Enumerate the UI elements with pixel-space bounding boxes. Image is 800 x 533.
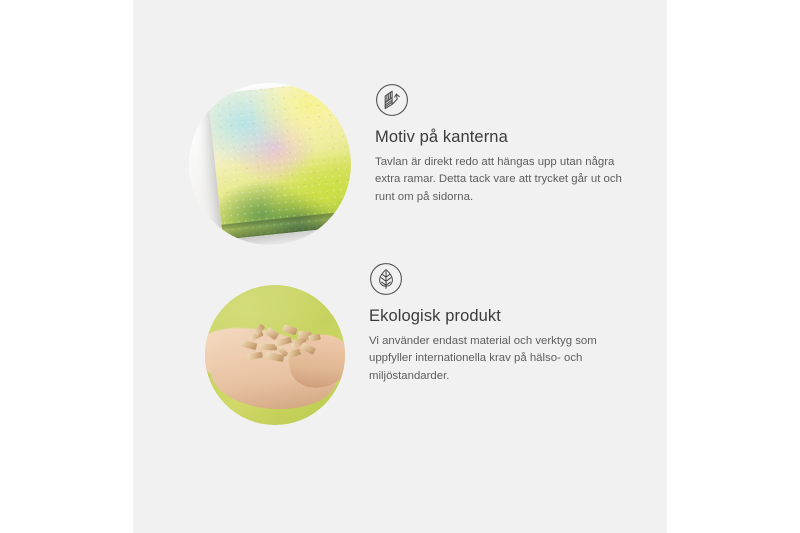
feature-description: Vi använder endast material och verktyg … bbox=[369, 333, 619, 386]
photo-background bbox=[205, 285, 345, 425]
canvas-wrapped-edge-icon bbox=[375, 83, 409, 117]
content-panel: Motiv på kanterna Tavlan är direkt redo … bbox=[133, 0, 667, 533]
feature-block-eco: Ekologisk produkt Vi använder endast mat… bbox=[133, 262, 667, 425]
product-info-graphic: Motiv på kanterna Tavlan är direkt redo … bbox=[0, 0, 800, 533]
hands-holding-wood-chips-photo bbox=[205, 285, 345, 425]
canvas-print-corner-photo bbox=[189, 83, 351, 245]
feature-title: Ekologisk produkt bbox=[369, 307, 655, 327]
feature-text-edges: Motiv på kanterna Tavlan är direkt redo … bbox=[351, 83, 667, 207]
feature-text-eco: Ekologisk produkt Vi använder endast mat… bbox=[345, 262, 667, 386]
feature-title: Motiv på kanterna bbox=[375, 128, 655, 148]
feature-description: Tavlan är direkt redo att hängas upp uta… bbox=[375, 154, 625, 207]
leaf-icon bbox=[369, 262, 403, 296]
wood-chips bbox=[238, 322, 327, 372]
photo-background bbox=[189, 83, 351, 245]
feature-block-edges: Motiv på kanterna Tavlan är direkt redo … bbox=[133, 83, 667, 245]
canvas-print-body bbox=[208, 83, 351, 240]
